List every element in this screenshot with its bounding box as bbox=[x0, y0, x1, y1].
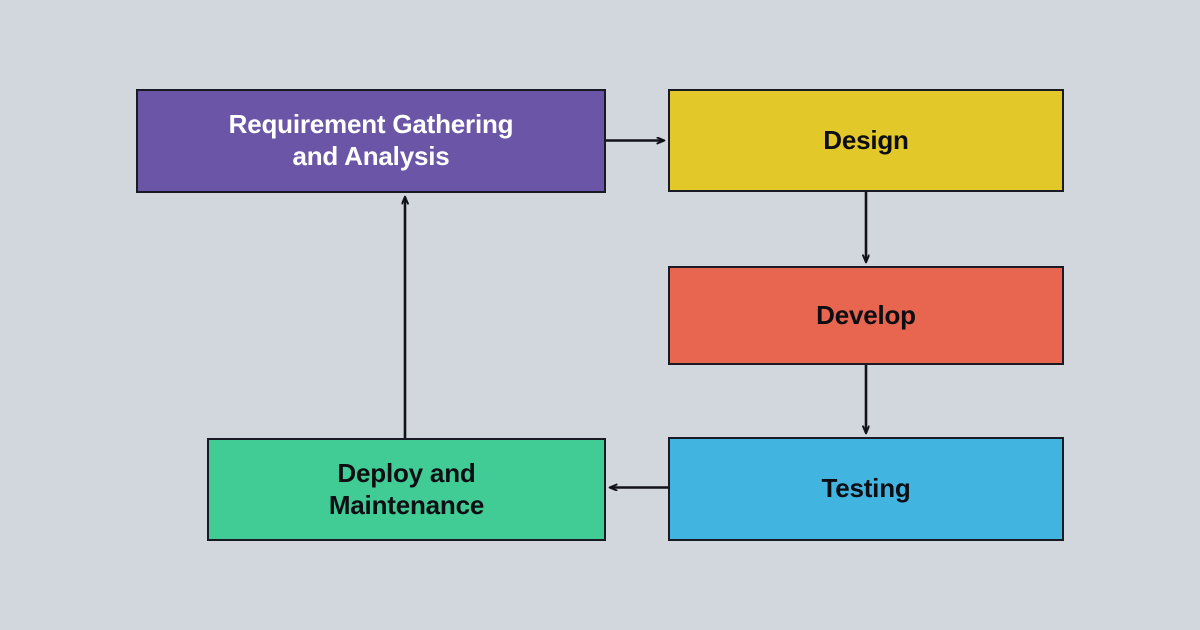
node-requirement-gathering-and-analysis[interactable]: Requirement Gathering and Analysis bbox=[136, 89, 606, 193]
node-label: Design bbox=[823, 125, 908, 157]
node-label: Testing bbox=[821, 473, 910, 505]
node-testing[interactable]: Testing bbox=[668, 437, 1064, 541]
node-design[interactable]: Design bbox=[668, 89, 1064, 192]
node-label: Requirement Gathering and Analysis bbox=[229, 109, 514, 172]
node-label: Deploy and Maintenance bbox=[329, 458, 484, 521]
flowchart-canvas: Requirement Gathering and Analysis Desig… bbox=[0, 0, 1200, 630]
node-label: Develop bbox=[816, 300, 916, 332]
node-deploy-and-maintenance[interactable]: Deploy and Maintenance bbox=[207, 438, 606, 541]
node-develop[interactable]: Develop bbox=[668, 266, 1064, 365]
